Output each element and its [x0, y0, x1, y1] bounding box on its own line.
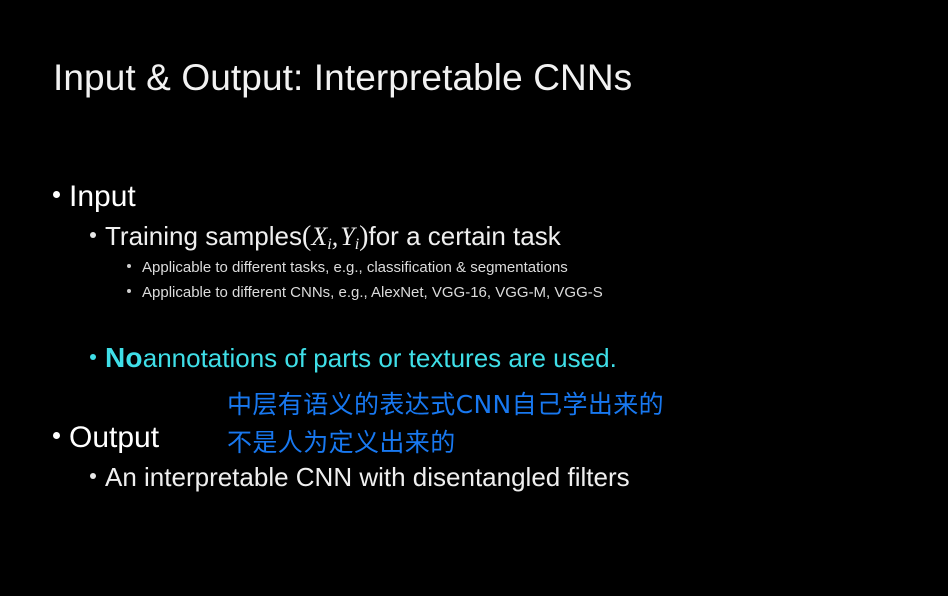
page-title: Input & Output: Interpretable CNNs	[53, 57, 632, 100]
bullet-output: Output	[53, 421, 159, 455]
round-bullet-icon	[127, 264, 131, 268]
no-annotations-rest: annotations of parts or textures are use…	[143, 343, 617, 374]
math-comma: ,	[332, 222, 339, 252]
math-variable-x: Xi	[311, 222, 331, 252]
bullet-output-detail-label: An interpretable CNN with disentangled f…	[105, 462, 630, 493]
chinese-note-line-2: 不是人为定义出来的	[227, 423, 456, 459]
bullet-output-detail: An interpretable CNN with disentangled f…	[90, 462, 630, 493]
bullet-applicable-tasks-label: Applicable to different tasks, e.g., cla…	[142, 259, 568, 276]
bullet-training-samples: Training samples ( Xi , Yi ) for a certa…	[90, 221, 561, 253]
round-bullet-icon	[127, 289, 131, 293]
round-bullet-icon	[53, 432, 60, 439]
bullet-applicable-cnns: Applicable to different CNNs, e.g., Alex…	[127, 284, 603, 301]
round-bullet-icon	[90, 232, 96, 238]
round-bullet-icon	[53, 191, 60, 198]
math-open-paren: (	[302, 221, 311, 253]
round-bullet-icon	[90, 473, 96, 479]
bullet-applicable-cnns-label: Applicable to different CNNs, e.g., Alex…	[142, 284, 603, 301]
bullet-input-label: Input	[69, 180, 136, 214]
training-samples-suffix: for a certain task	[369, 221, 561, 252]
bullet-input: Input	[53, 180, 136, 214]
slide-canvas: Input & Output: Interpretable CNNs Input…	[0, 0, 948, 596]
no-annotations-emphasis: No	[105, 342, 143, 374]
chinese-note-line-1: 中层有语义的表达式CNN自己学出来的	[227, 385, 664, 421]
bullet-no-annotations: No annotations of parts or textures are …	[90, 342, 617, 374]
bullet-applicable-tasks: Applicable to different tasks, e.g., cla…	[127, 259, 568, 276]
round-bullet-icon	[90, 354, 96, 360]
math-variable-y: Yi	[340, 222, 359, 252]
training-samples-prefix: Training samples	[105, 221, 302, 252]
math-close-paren: )	[359, 221, 368, 253]
bullet-output-label: Output	[69, 421, 159, 455]
